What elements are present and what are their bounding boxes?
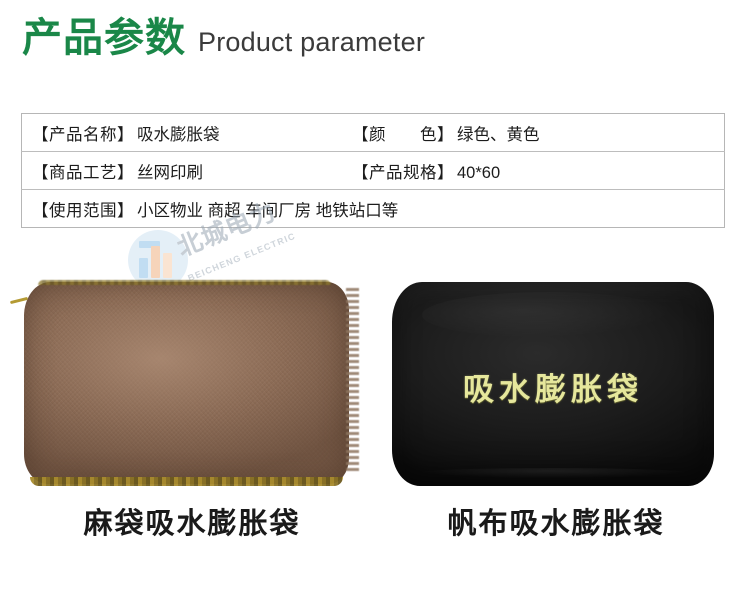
product-gallery: 麻袋吸水膨胀袋 吸水膨胀袋 帆布吸水膨胀袋 xyxy=(0,262,750,562)
sack-tie-icon xyxy=(10,297,28,304)
spec-value: 吸水膨胀袋 xyxy=(137,121,220,145)
bag-printed-text: 吸水膨胀袋 xyxy=(392,364,714,409)
spec-value: 绿色、黄色 xyxy=(457,121,540,145)
spec-key: 【颜 色】 xyxy=(352,121,454,145)
spec-cell-color: 【颜 色】 绿色、黄色 xyxy=(342,114,725,152)
spec-value: 丝网印刷 xyxy=(137,159,203,183)
page-title-cn: 产品参数 xyxy=(22,18,186,58)
product-caption-canvas-bag: 帆布吸水膨胀袋 xyxy=(380,500,732,542)
page-header: 产品参数 Product parameter xyxy=(22,18,425,58)
bag-highlight xyxy=(422,292,674,338)
table-row: 【商品工艺】 丝网印刷 【产品规格】 40*60 xyxy=(22,152,725,190)
spec-value: 40*60 xyxy=(457,164,500,183)
bag-seam-bottom xyxy=(416,468,690,478)
product-photo-canvas-bag: 吸水膨胀袋 xyxy=(380,262,732,488)
table-row: 【产品名称】 吸水膨胀袋 【颜 色】 绿色、黄色 xyxy=(22,114,725,152)
spec-cell-usage: 【使用范围】 小区物业 商超 车间厂房 地铁站口等 xyxy=(22,190,725,228)
spec-key: 【使用范围】 xyxy=(32,197,134,221)
spec-key: 【产品规格】 xyxy=(352,159,454,183)
spec-cell-size: 【产品规格】 40*60 xyxy=(342,152,725,190)
spec-cell-product-name: 【产品名称】 吸水膨胀袋 xyxy=(22,114,343,152)
product-caption-jute-bag: 麻袋吸水膨胀袋 xyxy=(16,500,368,542)
spec-value: 小区物业 商超 车间厂房 地铁站口等 xyxy=(137,197,398,221)
sack-seam-bottom xyxy=(30,477,343,486)
table-row: 【使用范围】 小区物业 商超 车间厂房 地铁站口等 xyxy=(22,190,725,228)
spec-key: 【商品工艺】 xyxy=(32,159,134,183)
product-card-canvas-bag: 吸水膨胀袋 帆布吸水膨胀袋 xyxy=(380,262,732,562)
page-title-en: Product parameter xyxy=(198,29,425,56)
jute-sack-image xyxy=(24,282,349,484)
product-photo-jute-bag xyxy=(16,262,368,488)
product-card-jute-bag: 麻袋吸水膨胀袋 xyxy=(16,262,368,562)
canvas-bag-image: 吸水膨胀袋 xyxy=(392,282,714,486)
spec-cell-craft: 【商品工艺】 丝网印刷 xyxy=(22,152,343,190)
product-spec-table: 【产品名称】 吸水膨胀袋 【颜 色】 绿色、黄色 【商品工艺】 丝网印刷 xyxy=(21,113,725,228)
sack-seam-top xyxy=(38,280,331,285)
spec-key: 【产品名称】 xyxy=(32,121,134,145)
sack-frayed-edge xyxy=(346,288,359,474)
